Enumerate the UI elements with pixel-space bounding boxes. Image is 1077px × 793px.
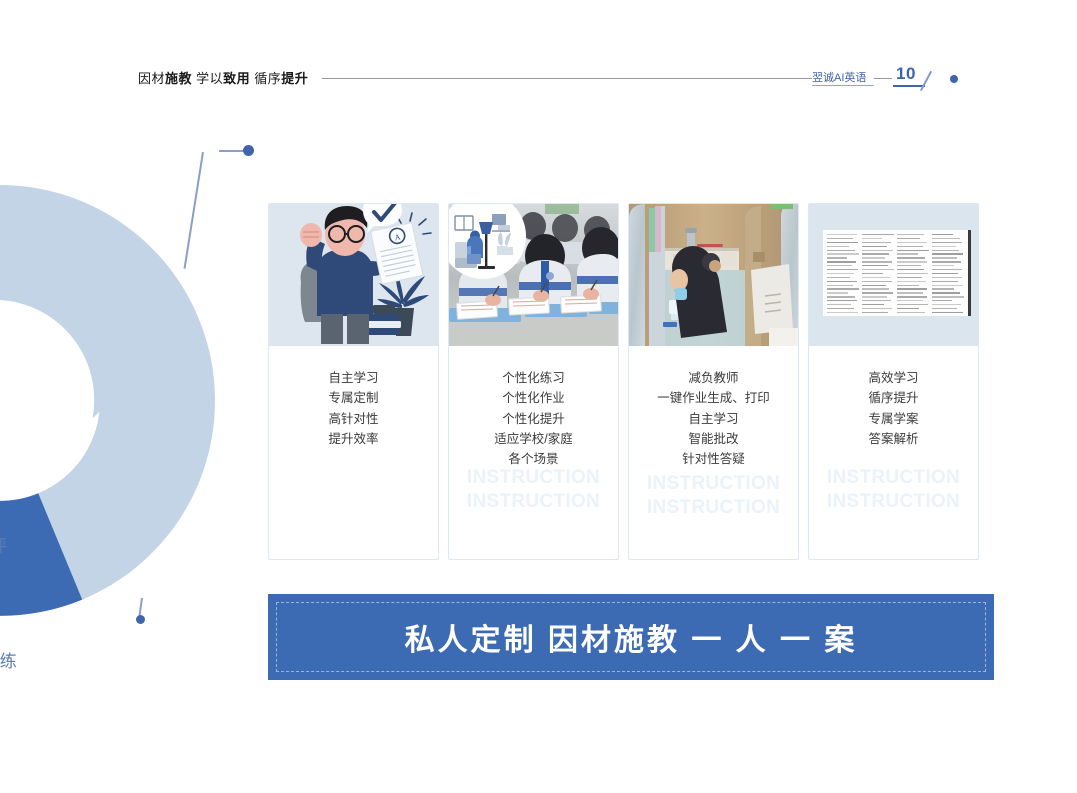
feature-card[interactable]: A 自主学习 专属定制 高针对性 提升效率: [268, 203, 439, 560]
donut-label-xuelian: 学/练: [0, 647, 17, 672]
feature-line: 智能批改: [629, 429, 798, 449]
feature-line: 减负教师: [629, 368, 798, 388]
feature-card-text: 减负教师 一键作业生成、打印 自主学习 智能批改 针对性答疑: [629, 346, 798, 469]
feature-line: 个性化练习: [449, 368, 618, 388]
instruction-watermark: INSTRUCTION INSTRUCTION: [629, 472, 798, 521]
feature-line: 专属学案: [809, 409, 978, 429]
study-booth-photo-svg: [629, 204, 798, 346]
feature-line: 适应学校/家庭: [449, 429, 618, 449]
feature-line: 高针对性: [269, 409, 438, 429]
feature-card-list: A 自主学习 专属定制 高针对性 提升效率: [268, 203, 994, 563]
slogan-banner-inner-border: 私人定制 因材施教 一 人 一 案: [276, 602, 986, 672]
tagline-part-3: 学以: [192, 71, 223, 86]
instruction-watermark: INSTRUCTION INSTRUCTION: [809, 466, 978, 515]
feature-line: 提升效率: [269, 429, 438, 449]
feature-line: 高效学习: [809, 368, 978, 388]
header-divider-line: [322, 78, 812, 79]
feature-line: 个性化作业: [449, 388, 618, 408]
slide-page: 因材施教 学以致用 循序提升 翌诚AI英语 10 测 评 学: [0, 0, 1077, 793]
slide-header: 因材施教 学以致用 循序提升 翌诚AI英语 10: [0, 68, 1077, 98]
process-donut-diagram: 测 评 学/练 辅: [0, 180, 260, 620]
feature-line: 一键作业生成、打印: [629, 388, 798, 408]
header-divider-line-right: [874, 78, 892, 79]
feature-card-text: 个性化练习 个性化作业 个性化提升 适应学校/家庭 各个场景: [449, 346, 618, 469]
feature-line: 循序提升: [809, 388, 978, 408]
feature-card-text: 自主学习 专属定制 高针对性 提升效率: [269, 346, 438, 449]
header-tagline: 因材施教 学以致用 循序提升: [138, 68, 308, 87]
illustration-svg: A: [269, 204, 438, 346]
dot-icon: [950, 75, 958, 83]
teacher-study-booth-photo: [629, 204, 798, 346]
page-number: 10: [896, 64, 916, 84]
brand-underline: [812, 85, 874, 86]
feature-line: 各个场景: [449, 449, 618, 469]
donut-segments: [0, 185, 215, 616]
watermark-line: INSTRUCTION: [629, 496, 798, 520]
connector-dot-bottom: [136, 615, 145, 624]
feature-line: 自主学习: [269, 368, 438, 388]
slogan-banner: 私人定制 因材施教 一 人 一 案: [268, 594, 994, 680]
instruction-watermark: INSTRUCTION INSTRUCTION: [449, 466, 618, 515]
watermark-line: INSTRUCTION: [449, 490, 618, 514]
student-celebrating-illustration: A: [269, 204, 438, 346]
tagline-part-1: 因材: [138, 71, 165, 86]
feature-card[interactable]: 减负教师 一键作业生成、打印 自主学习 智能批改 针对性答疑 INSTRUCTI…: [628, 203, 799, 560]
donut-svg: [0, 180, 260, 620]
watermark-line: INSTRUCTION: [629, 472, 798, 496]
classroom-photo-svg: [449, 204, 618, 346]
page-number-underline: [893, 85, 925, 87]
tagline-part-6: 提升: [281, 71, 308, 86]
feature-line: 个性化提升: [449, 409, 618, 429]
feature-card[interactable]: 个性化练习 个性化作业 个性化提升 适应学校/家庭 各个场景 INSTRUCTI…: [448, 203, 619, 560]
feature-line: 答案解析: [809, 429, 978, 449]
feature-line: 专属定制: [269, 388, 438, 408]
feature-line: 针对性答疑: [629, 449, 798, 469]
slash-icon: [920, 71, 932, 91]
feature-card-text: 高效学习 循序提升 专属学案 答案解析: [809, 346, 978, 449]
tagline-part-2: 施教: [165, 71, 192, 86]
brand-label: 翌诚AI英语: [812, 69, 866, 85]
tagline-part-4: 致用: [223, 71, 250, 86]
donut-label-ping: 评: [0, 532, 7, 557]
watermark-line: INSTRUCTION: [449, 466, 618, 490]
watermark-line: INSTRUCTION: [809, 490, 978, 514]
classroom-students-writing-photo: [449, 204, 618, 346]
feature-line: 自主学习: [629, 409, 798, 429]
vocabulary-worksheet-document-photo: [809, 204, 978, 346]
slogan-text: 私人定制 因材施教 一 人 一 案: [405, 615, 858, 659]
tagline-part-5: 循序: [250, 71, 281, 86]
worksheet-document: [823, 230, 971, 316]
connector-dot-top: [243, 145, 254, 156]
feature-card[interactable]: 高效学习 循序提升 专属学案 答案解析 INSTRUCTION INSTRUCT…: [808, 203, 979, 560]
watermark-line: INSTRUCTION: [809, 466, 978, 490]
